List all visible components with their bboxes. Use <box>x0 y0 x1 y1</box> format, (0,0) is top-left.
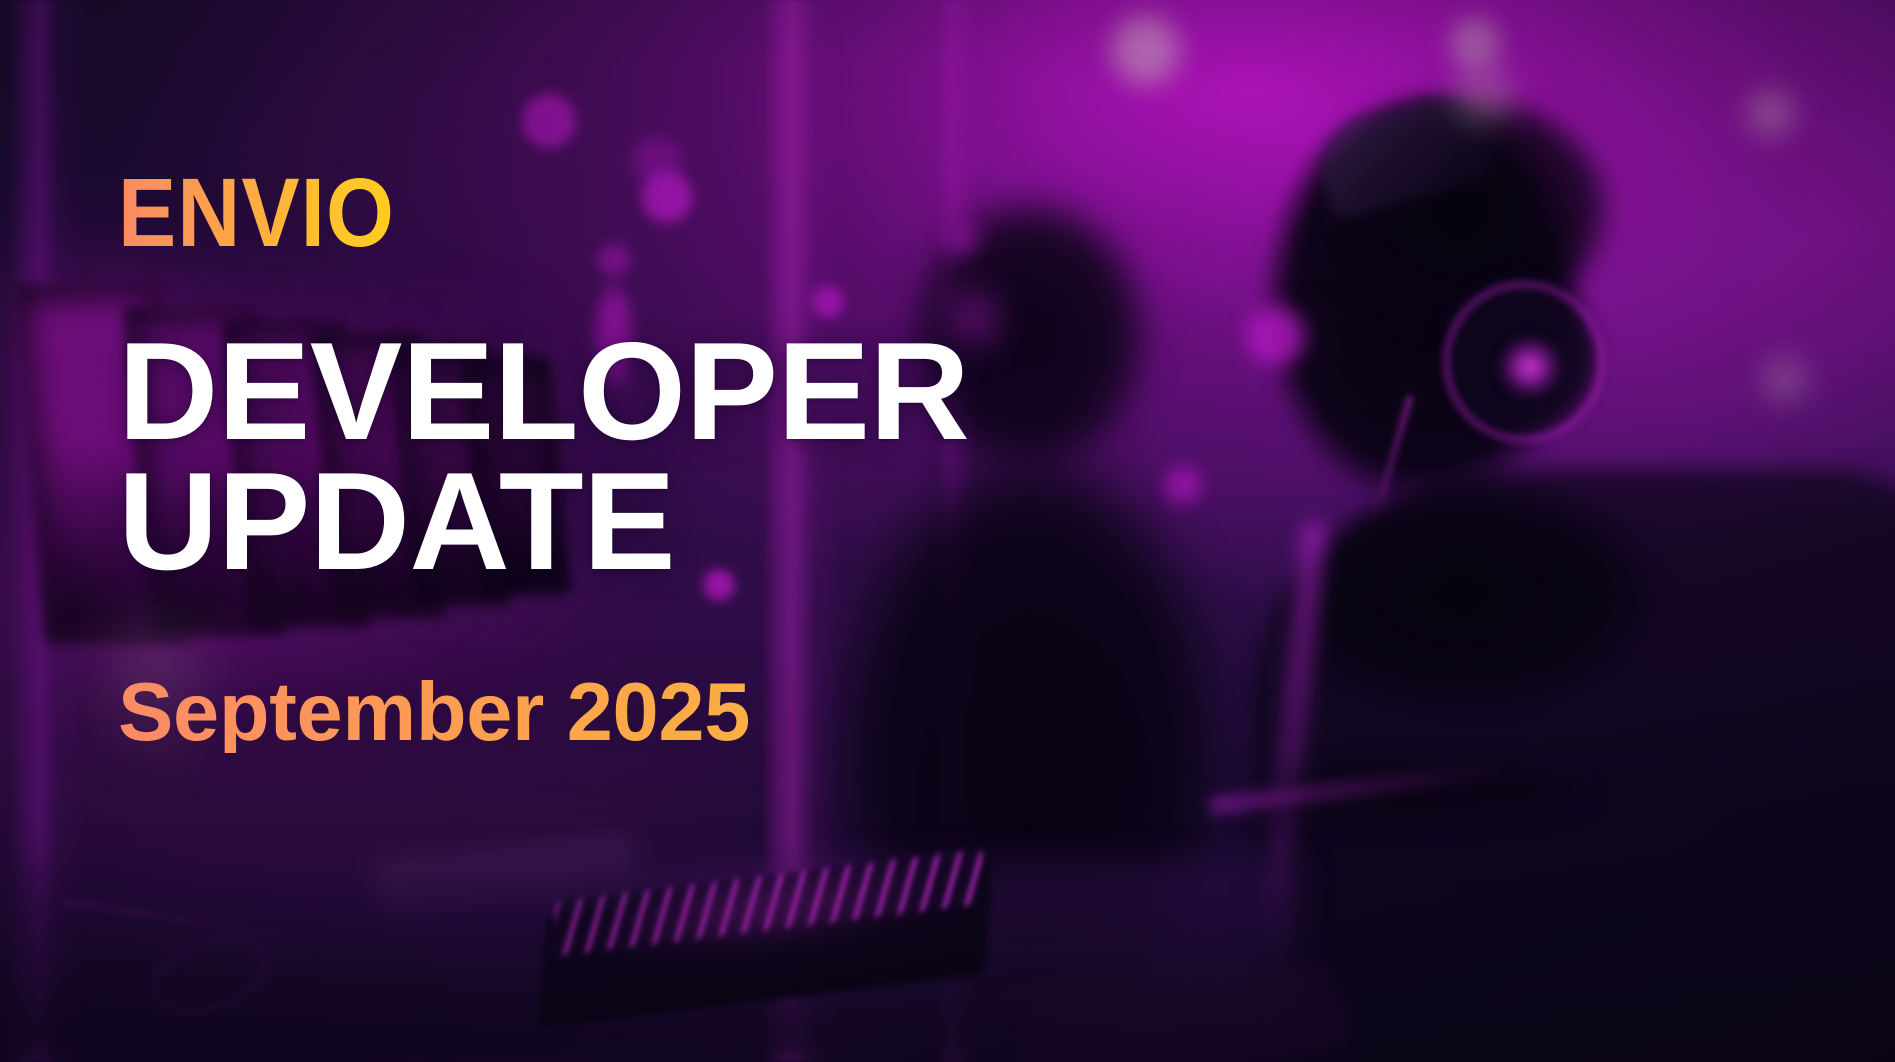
bokeh-light <box>1742 84 1800 142</box>
foreground-gamer-arm-rim <box>1208 762 1508 814</box>
bokeh-light <box>1756 350 1814 408</box>
foreground-gamer-earcup-led <box>1498 336 1562 398</box>
issue-date-label: September 2025 <box>118 670 750 753</box>
desk-cable-loop <box>142 923 278 1027</box>
banner-content: ENVIO DEVELOPER UPDATE September 2025 <box>118 168 1158 753</box>
foreground-gamer-head <box>1258 92 1588 512</box>
bokeh-light <box>1240 300 1312 372</box>
envio-logo-wordmark: ENVIO <box>118 168 395 257</box>
bokeh-light <box>1444 12 1506 74</box>
foreground-gamer-arm <box>1180 760 1700 1060</box>
foreground-gamer-shoulder-rim <box>1258 520 1328 940</box>
desk-paper <box>373 833 639 930</box>
page-title-line-2: UPDATE <box>118 457 1158 586</box>
developer-update-banner: ENVIO DEVELOPER UPDATE September 2025 <box>0 0 1895 1062</box>
keyboard-rgb-glow <box>537 838 1004 975</box>
keyboard-rgb-keys <box>551 849 983 956</box>
foreground-gamer-boom-mic <box>1365 394 1414 540</box>
bokeh-light <box>1160 462 1206 508</box>
page-title: DEVELOPER UPDATE <box>118 327 1158 586</box>
foreground-gamer-headband <box>1309 86 1500 222</box>
page-title-line-1: DEVELOPER <box>118 327 1158 456</box>
desk-surface <box>0 860 1300 1062</box>
foreground-gamer-earcup <box>1430 268 1608 446</box>
foreground-gamer-torso <box>1252 470 1895 1062</box>
keyboard-body <box>537 860 994 1029</box>
foreground-gamer-hair <box>1300 84 1620 334</box>
desk-cable-left <box>61 897 349 949</box>
desk-far-keyboard <box>1017 966 1343 1062</box>
foreground-gamer-earcup-ring <box>1444 282 1604 442</box>
bokeh-light <box>1446 58 1520 132</box>
bokeh-light <box>516 88 582 154</box>
bokeh-light <box>1104 8 1188 92</box>
